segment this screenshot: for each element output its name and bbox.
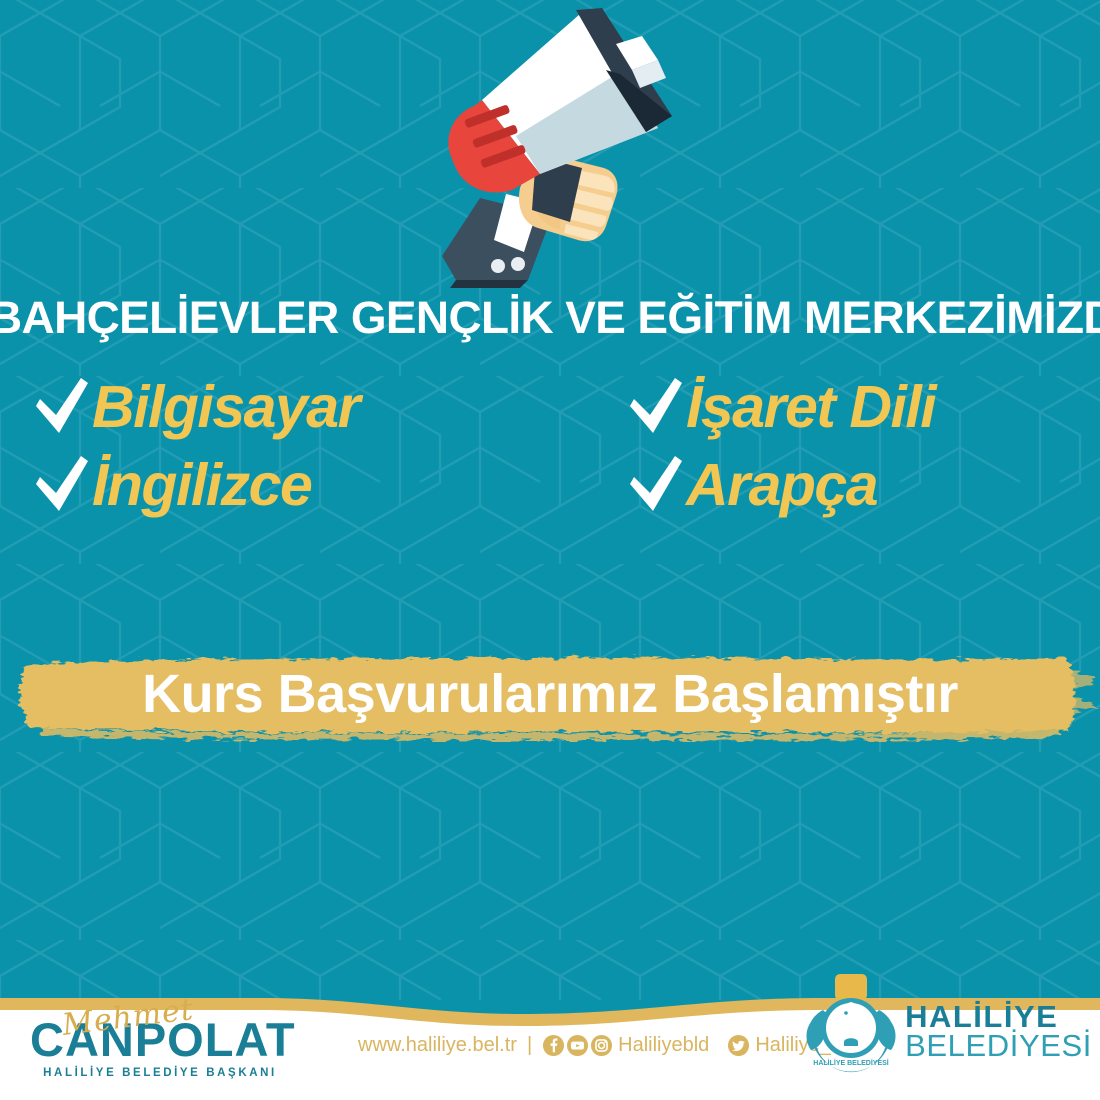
check-icon — [628, 376, 684, 438]
mayor-title: HALİLİYE BELEDİYE BAŞKANI — [30, 1067, 290, 1079]
social-handle-primary[interactable]: Haliliyebld — [618, 1034, 709, 1057]
course-column-right: İşaret Dili Arapça — [628, 368, 935, 524]
megaphone-illustration — [420, 8, 710, 288]
list-item: İşaret Dili — [628, 368, 935, 446]
list-item: İngilizce — [34, 446, 359, 524]
twitter-icon[interactable] — [727, 1034, 750, 1057]
youtube-icon[interactable] — [566, 1034, 589, 1057]
social-links: www.haliliye.bel.tr | Halil — [358, 1034, 858, 1057]
check-icon — [628, 454, 684, 516]
announcement-banner: Kurs Başvurularımız Başlamıştır — [0, 636, 1100, 756]
course-label: İşaret Dili — [686, 378, 935, 437]
course-label: İngilizce — [92, 456, 311, 515]
haliliye-belediyesi-emblem: HALİLİYE BELEDİYESİ — [799, 970, 903, 1074]
municipality-name-line2: BELEDİYESİ — [905, 1032, 1092, 1061]
check-icon — [34, 376, 90, 438]
page-title: BAHÇELİEVLER GENÇLİK VE EĞİTİM MERKEZİMİ… — [0, 292, 1100, 344]
list-item: Bilgisayar — [34, 368, 359, 446]
course-list: Bilgisayar İngilizce İşaret Dili Ara — [0, 368, 1100, 528]
footer: Mehmet CANPOLAT HALİLİYE BELEDİYE BAŞKAN… — [0, 988, 1100, 1100]
poster-canvas: BAHÇELİEVLER GENÇLİK VE EĞİTİM MERKEZİMİ… — [0, 0, 1100, 1100]
list-item: Arapça — [628, 446, 935, 524]
course-column-left: Bilgisayar İngilizce — [34, 368, 359, 524]
banner-text: Kurs Başvurularımız Başlamıştır — [0, 663, 1100, 725]
emblem-ring-text: HALİLİYE BELEDİYESİ — [813, 1059, 889, 1067]
instagram-icon[interactable] — [590, 1034, 613, 1057]
municipality-logo: HALİLİYE BELEDİYESİ HALİLİYE BELEDİYESİ — [799, 970, 1092, 1074]
course-label: Arapça — [686, 456, 877, 515]
check-icon — [34, 454, 90, 516]
facebook-icon[interactable] — [542, 1034, 565, 1057]
website-url[interactable]: www.haliliye.bel.tr — [358, 1034, 517, 1057]
mayor-logo: Mehmet CANPOLAT HALİLİYE BELEDİYE BAŞKAN… — [30, 1004, 290, 1079]
separator: | — [527, 1034, 532, 1057]
course-label: Bilgisayar — [92, 378, 359, 437]
